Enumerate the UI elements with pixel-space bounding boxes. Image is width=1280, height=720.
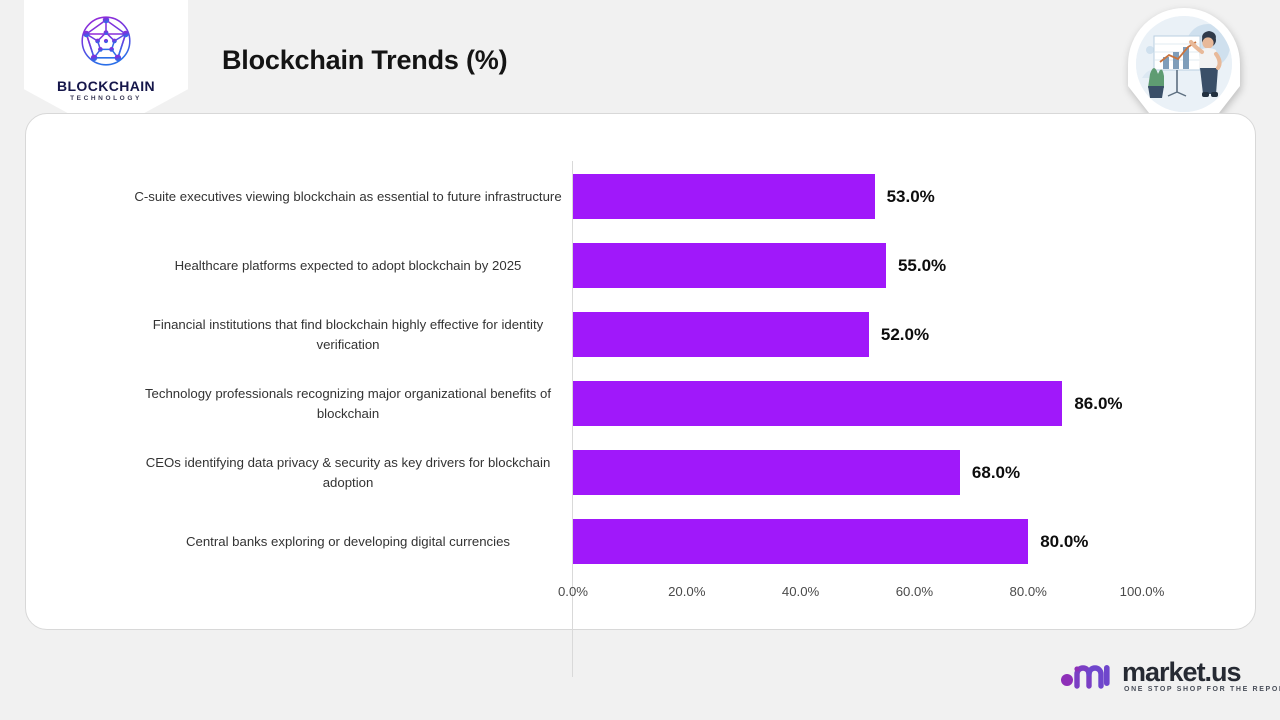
bar-category-label: Technology professionals recognizing maj…	[128, 384, 568, 424]
bar-category-label: Healthcare platforms expected to adopt b…	[128, 256, 568, 276]
bar-category-label: Central banks exploring or developing di…	[128, 532, 568, 552]
bar-row: CEOs identifying data privacy & security…	[26, 450, 1257, 495]
x-axis-tick: 40.0%	[782, 584, 819, 599]
bar-rect[interactable]	[573, 312, 869, 357]
bar-category-label: CEOs identifying data privacy & security…	[128, 453, 568, 493]
bar-value-label: 86.0%	[1074, 394, 1122, 414]
footer-tagline: ONE STOP SHOP FOR THE REPORTS	[1124, 686, 1280, 693]
x-axis-tick: 80.0%	[1009, 584, 1046, 599]
x-axis-tick: 100.0%	[1120, 584, 1165, 599]
brand-logo-name: BLOCKCHAIN	[24, 78, 188, 94]
market-us-mark-icon	[1060, 659, 1116, 695]
bar-rect[interactable]	[573, 381, 1062, 426]
presenter-chart-illustration	[1136, 16, 1232, 112]
blockchain-network-icon	[71, 6, 141, 76]
x-axis-tick: 20.0%	[668, 584, 705, 599]
page-title: Blockchain Trends (%)	[222, 45, 507, 76]
x-axis-tick: 60.0%	[896, 584, 933, 599]
bar-row: Financial institutions that find blockch…	[26, 312, 1257, 357]
bar-rect[interactable]	[573, 243, 886, 288]
footer-logo: market.us ONE STOP SHOP FOR THE REPORTS	[1060, 655, 1260, 701]
bar-rect[interactable]	[573, 450, 960, 495]
bar-value-label: 80.0%	[1040, 532, 1088, 552]
x-axis-tick-labels: 0.0%20.0%40.0%60.0%80.0%100.0%	[26, 584, 1257, 624]
header-bar	[0, 0, 1280, 113]
bar-value-label: 52.0%	[881, 325, 929, 345]
brand-logo-tagline: TECHNOLOGY	[24, 95, 188, 102]
bar-row: Healthcare platforms expected to adopt b…	[26, 243, 1257, 288]
bar-row: Central banks exploring or developing di…	[26, 519, 1257, 564]
bar-rect[interactable]	[573, 519, 1028, 564]
x-axis-tick: 0.0%	[558, 584, 588, 599]
bar-value-label: 53.0%	[887, 187, 935, 207]
bar-rect[interactable]	[573, 174, 875, 219]
bar-row: Technology professionals recognizing maj…	[26, 381, 1257, 426]
bar-row: C-suite executives viewing blockchain as…	[26, 174, 1257, 219]
bar-chart-plot-area: C-suite executives viewing blockchain as…	[26, 114, 1257, 631]
bar-value-label: 68.0%	[972, 463, 1020, 483]
bar-category-label: C-suite executives viewing blockchain as…	[128, 187, 568, 207]
bar-category-label: Financial institutions that find blockch…	[128, 315, 568, 355]
bar-value-label: 55.0%	[898, 256, 946, 276]
footer-wordmark: market.us	[1122, 657, 1241, 688]
chart-card: C-suite executives viewing blockchain as…	[25, 113, 1256, 630]
